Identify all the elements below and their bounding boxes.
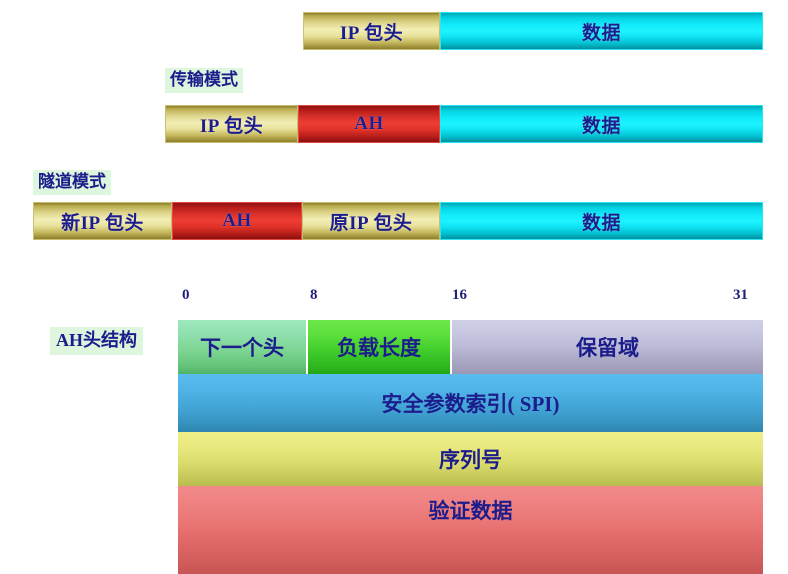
- bit-ruler-tick-16: 16: [452, 288, 467, 303]
- tunnel-mode-label-text: 隧道模式: [38, 172, 106, 191]
- row1-data-label: 数据: [582, 18, 621, 45]
- ah-structure-label-text: AH头结构: [56, 330, 137, 350]
- ah-field-sequence-number-label: 序列号: [439, 444, 502, 474]
- ah-field-next-header-label: 下一个头: [200, 332, 284, 362]
- transport-mode-label-text: 传输模式: [170, 70, 238, 89]
- transport-mode-label: 传输模式: [165, 68, 243, 93]
- tunnel-mode-label: 隧道模式: [33, 170, 111, 195]
- row2-ah-label: AH: [354, 113, 384, 135]
- row1-ip-header-segment: IP 包头: [303, 12, 440, 50]
- ah-field-reserved: 保留域: [452, 320, 763, 374]
- row2-data-label: 数据: [582, 111, 621, 138]
- row3-new-ip-header-segment: 新IP 包头: [33, 202, 172, 240]
- row2-ip-header-segment: IP 包头: [165, 105, 298, 143]
- tick-16-text: 16: [452, 287, 467, 303]
- row3-original-ip-header-label: 原IP 包头: [330, 208, 413, 235]
- row3-data-label: 数据: [582, 208, 621, 235]
- ah-structure-label: AH头结构: [50, 327, 143, 355]
- tick-0-text: 0: [182, 287, 190, 303]
- row2-ip-header-label: IP 包头: [200, 111, 263, 138]
- tick-8-text: 8: [310, 287, 318, 303]
- ah-field-next-header: 下一个头: [178, 320, 308, 374]
- row1-ip-header-label: IP 包头: [340, 18, 403, 45]
- ah-field-authentication-data: 验证数据: [178, 486, 763, 574]
- bit-ruler-tick-31: 31: [733, 288, 748, 303]
- bit-ruler-tick-8: 8: [310, 288, 318, 303]
- row2-ah-segment: AH: [298, 105, 440, 143]
- row3-data-segment: 数据: [440, 202, 763, 240]
- row3-ah-label: AH: [222, 210, 252, 232]
- ah-field-payload-length: 负载长度: [308, 320, 452, 374]
- ah-field-authentication-data-label: 验证数据: [429, 495, 513, 525]
- diagram-canvas: IP 包头 数据 传输模式 IP 包头 AH 数据 隧道模式 新IP 包头 AH…: [0, 0, 788, 574]
- tick-31-text: 31: [733, 287, 748, 303]
- row1-data-segment: 数据: [440, 12, 763, 50]
- ah-field-reserved-label: 保留域: [576, 332, 639, 362]
- row3-new-ip-header-label: 新IP 包头: [61, 208, 144, 235]
- ah-field-sequence-number: 序列号: [178, 432, 763, 486]
- row3-ah-segment: AH: [172, 202, 302, 240]
- ah-field-spi: 安全参数索引( SPI): [178, 374, 763, 432]
- ah-field-payload-length-label: 负载长度: [337, 332, 421, 362]
- ah-field-spi-label: 安全参数索引( SPI): [382, 388, 560, 418]
- row3-original-ip-header-segment: 原IP 包头: [302, 202, 440, 240]
- row2-data-segment: 数据: [440, 105, 763, 143]
- bit-ruler-tick-0: 0: [182, 288, 190, 303]
